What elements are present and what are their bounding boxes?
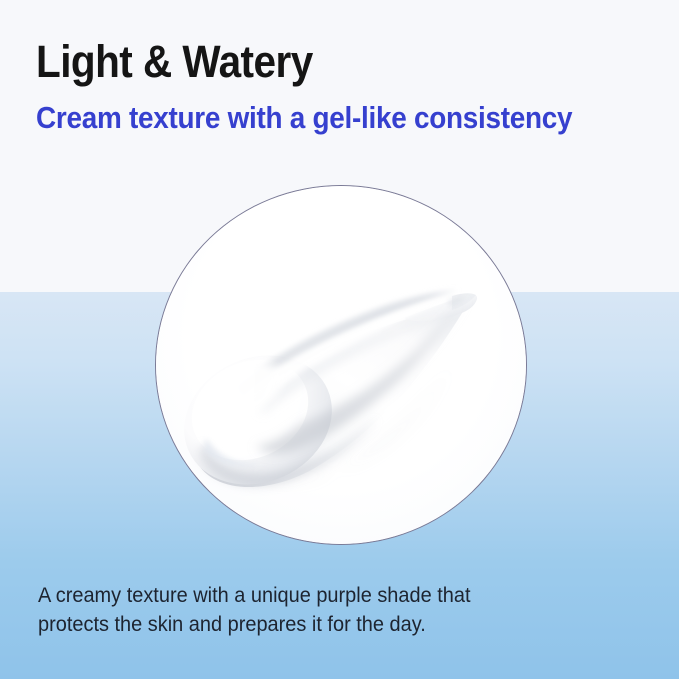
caption-line-1: A creamy texture with a unique purple sh… — [38, 581, 589, 610]
circle-inner-glow — [156, 186, 526, 544]
caption-line-2: protects the skin and prepares it for th… — [38, 610, 589, 639]
product-texture-poster: Light & Watery Cream texture with a gel-… — [0, 0, 679, 679]
page-subtitle: Cream texture with a gel-like consistenc… — [36, 100, 594, 136]
texture-circle-wrapper — [155, 185, 527, 545]
caption-text: A creamy texture with a unique purple sh… — [38, 581, 589, 639]
product-texture-circle — [155, 185, 527, 545]
header-block: Light & Watery Cream texture with a gel-… — [36, 36, 656, 136]
page-title: Light & Watery — [36, 36, 594, 88]
